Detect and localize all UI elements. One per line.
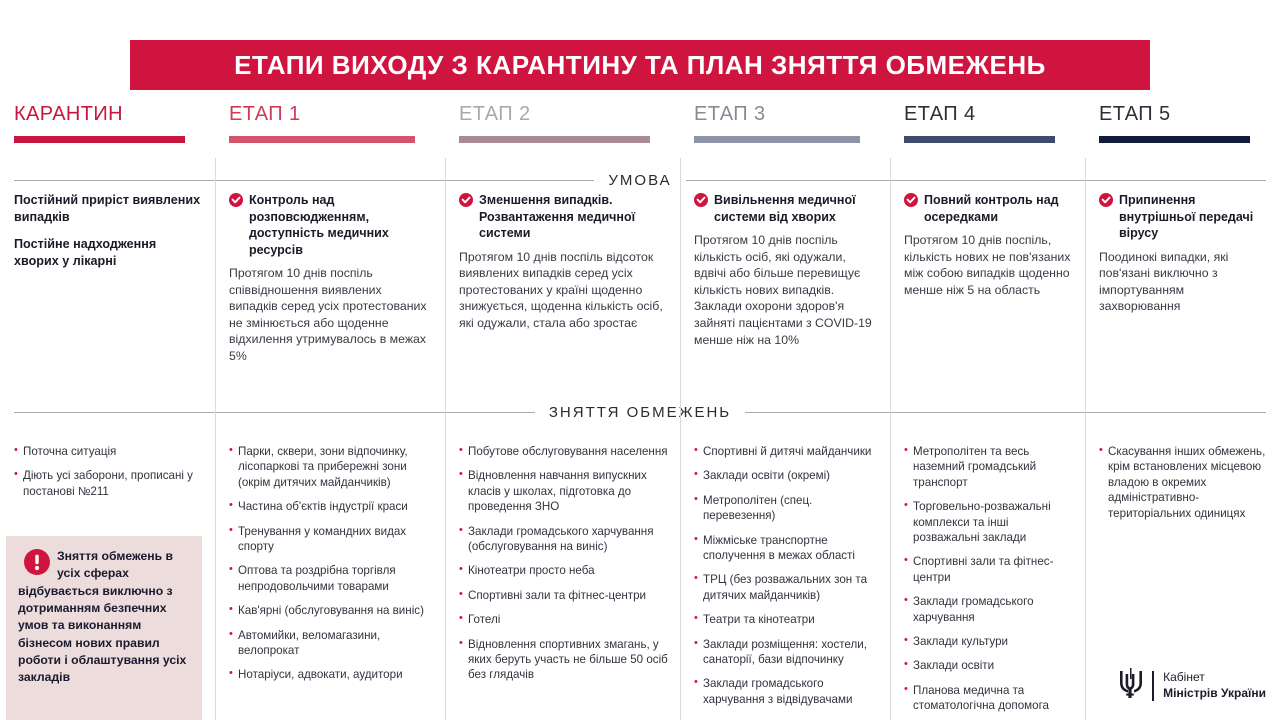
- list-item: Оптова та роздрібна торгівля непродоволь…: [229, 563, 435, 594]
- stage-color-bar: [694, 136, 860, 143]
- condition-heading: Зменшення випадків. Розвантаження медичн…: [459, 192, 668, 242]
- list-item: Міжміське транспортне сполучення в межах…: [694, 533, 880, 564]
- list-item: Заклади громадського харчування з відвід…: [694, 676, 880, 707]
- list-item: Заклади культури: [904, 634, 1075, 649]
- list-item: Метрополітен (спец. перевезення): [694, 493, 880, 524]
- trident-icon: [1117, 667, 1143, 704]
- stage-title: ЕТАП 2: [459, 100, 670, 130]
- stage-color-bar: [459, 136, 650, 143]
- stage-column-2: ЕТАП 2Зменшення випадків. Розвантаження …: [445, 100, 680, 720]
- list-item: Спортивні зали та фітнес-центри: [459, 588, 670, 603]
- list-item: Автомийки, веломагазини, велопрокат: [229, 628, 435, 659]
- condition-block: Зменшення випадків. Розвантаження медичн…: [445, 192, 680, 331]
- restrictions-list: Побутове обслуговування населенняВідновл…: [445, 444, 680, 692]
- stage-column-5: ЕТАП 5Припинення внутрішньої передачі ві…: [1085, 100, 1280, 720]
- condition-description: Протягом 10 днів поспіль відсоток виявле…: [459, 249, 668, 332]
- list-item: Заклади громадського харчування: [904, 594, 1075, 625]
- government-logo: Кабінет Міністрів України: [1117, 667, 1266, 704]
- list-item: Метрополітен та весь наземний громадськи…: [904, 444, 1075, 490]
- logo-text: Кабінет Міністрів України: [1163, 670, 1266, 701]
- check-circle-icon: [1099, 193, 1113, 212]
- infographic-page: ЕТАПИ ВИХОДУ З КАРАНТИНУ ТА ПЛАН ЗНЯТТЯ …: [0, 0, 1280, 720]
- condition-description: Поодинокі випадки, які пов'язані виключн…: [1099, 249, 1268, 315]
- stage-color-bar: [229, 136, 415, 143]
- list-item: Парки, сквери, зони відпочинку, лісопарк…: [229, 444, 435, 490]
- list-item: Театри та кінотеатри: [694, 612, 880, 627]
- check-circle-icon: [904, 193, 918, 212]
- stage-column-4: ЕТАП 4Повний контроль над осередкамиПрот…: [890, 100, 1085, 720]
- list-item: ТРЦ (без розважальних зон та дитячих май…: [694, 572, 880, 603]
- list-item: Кінотеатри просто неба: [459, 563, 670, 578]
- list-item: Тренування у командних видах спорту: [229, 524, 435, 555]
- list-item: Спортивні й дитячі майданчики: [694, 444, 880, 459]
- stage-column-3: ЕТАП 3Вивільнення медичної системи від х…: [680, 100, 890, 720]
- warning-callout: Зняття обмежень в усіх сферах відбуваєть…: [6, 536, 202, 720]
- stage-color-bar: [14, 136, 185, 143]
- list-item: Планова медична та стоматологічна допомо…: [904, 683, 1075, 714]
- condition-heading-text: Зменшення випадків. Розвантаження медичн…: [479, 192, 668, 242]
- logo-divider: [1152, 671, 1154, 701]
- list-item: Нотаріуси, адвокати, аудитори: [229, 667, 435, 682]
- stage-color-bar: [904, 136, 1055, 143]
- restrictions-list: Парки, сквери, зони відпочинку, лісопарк…: [215, 444, 445, 692]
- stage-title: ЕТАП 5: [1099, 100, 1270, 130]
- condition-statement: Постійне надходження хворих у лікарні: [14, 236, 203, 270]
- title-banner: ЕТАПИ ВИХОДУ З КАРАНТИНУ ТА ПЛАН ЗНЯТТЯ …: [130, 40, 1150, 90]
- condition-heading: Контроль над розповсюдженням, доступніст…: [229, 192, 433, 258]
- stage-title: КАРАНТИН: [14, 100, 205, 130]
- list-item: Скасування інших обмежень, крім встановл…: [1099, 444, 1270, 521]
- stage-color-bar: [1099, 136, 1250, 143]
- stage-title: ЕТАП 1: [229, 100, 435, 130]
- check-circle-icon: [459, 193, 473, 212]
- condition-block: Вивільнення медичної системи від хворихП…: [680, 192, 890, 348]
- condition-block: Припинення внутрішньої передачі вірусуПо…: [1085, 192, 1280, 315]
- stage-title: ЕТАП 4: [904, 100, 1075, 130]
- warning-icon: [24, 549, 50, 580]
- condition-statement: Постійний приріст виявлених випадків: [14, 192, 203, 226]
- list-item: Заклади громадського харчування (обслуго…: [459, 524, 670, 555]
- check-circle-icon: [694, 193, 708, 212]
- logo-line-2: Міністрів України: [1163, 686, 1266, 701]
- restrictions-list: Скасування інших обмежень, крім встановл…: [1085, 444, 1280, 530]
- list-item: Частина об'єктів індустрії краси: [229, 499, 435, 514]
- condition-heading: Вивільнення медичної системи від хворих: [694, 192, 878, 225]
- check-circle-icon: [229, 193, 243, 212]
- list-item: Заклади освіти: [904, 658, 1075, 673]
- list-item: Заклади розміщення: хостели, санаторії, …: [694, 637, 880, 668]
- condition-description: Протягом 10 днів поспіль співвідношення …: [229, 265, 433, 365]
- condition-block: Постійний приріст виявлених випадківПост…: [0, 192, 215, 280]
- condition-heading-text: Припинення внутрішньої передачі вірусу: [1119, 192, 1268, 242]
- condition-heading-text: Контроль над розповсюдженням, доступніст…: [249, 192, 433, 258]
- list-item: Діють усі заборони, прописані у постанов…: [14, 468, 205, 499]
- condition-block: Повний контроль над осередкамиПротягом 1…: [890, 192, 1085, 298]
- condition-heading: Повний контроль над осередками: [904, 192, 1073, 225]
- list-item: Торговельно-розважальні комплекси та інш…: [904, 499, 1075, 545]
- condition-heading-text: Вивільнення медичної системи від хворих: [714, 192, 878, 225]
- list-item: Кав'ярні (обслуговування на виніс): [229, 603, 435, 618]
- list-item: Побутове обслуговування населення: [459, 444, 670, 459]
- list-item: Заклади освіти (окремі): [694, 468, 880, 483]
- stage-column-1: ЕТАП 1Контроль над розповсюдженням, дост…: [215, 100, 445, 720]
- list-item: Відновлення навчання випускних класів у …: [459, 468, 670, 514]
- list-item: Відновлення спортивних змагань, у яких б…: [459, 637, 670, 683]
- restrictions-list: Спортивні й дитячі майданчикиЗаклади осв…: [680, 444, 890, 716]
- condition-description: Протягом 10 днів поспіль, кількість нови…: [904, 232, 1073, 298]
- restrictions-list: Метрополітен та весь наземний громадськи…: [890, 444, 1085, 720]
- logo-line-1: Кабінет: [1163, 670, 1266, 685]
- condition-heading-text: Повний контроль над осередками: [924, 192, 1073, 225]
- condition-block: Контроль над розповсюдженням, доступніст…: [215, 192, 445, 365]
- list-item: Готелі: [459, 612, 670, 627]
- condition-heading: Припинення внутрішньої передачі вірусу: [1099, 192, 1268, 242]
- stage-title: ЕТАП 3: [694, 100, 880, 130]
- restrictions-list: Поточна ситуаціяДіють усі заборони, проп…: [0, 444, 215, 508]
- condition-description: Протягом 10 днів поспіль кількість осіб,…: [694, 232, 878, 348]
- list-item: Спортивні зали та фітнес-центри: [904, 554, 1075, 585]
- page-title: ЕТАПИ ВИХОДУ З КАРАНТИНУ ТА ПЛАН ЗНЯТТЯ …: [234, 50, 1046, 81]
- list-item: Поточна ситуація: [14, 444, 205, 459]
